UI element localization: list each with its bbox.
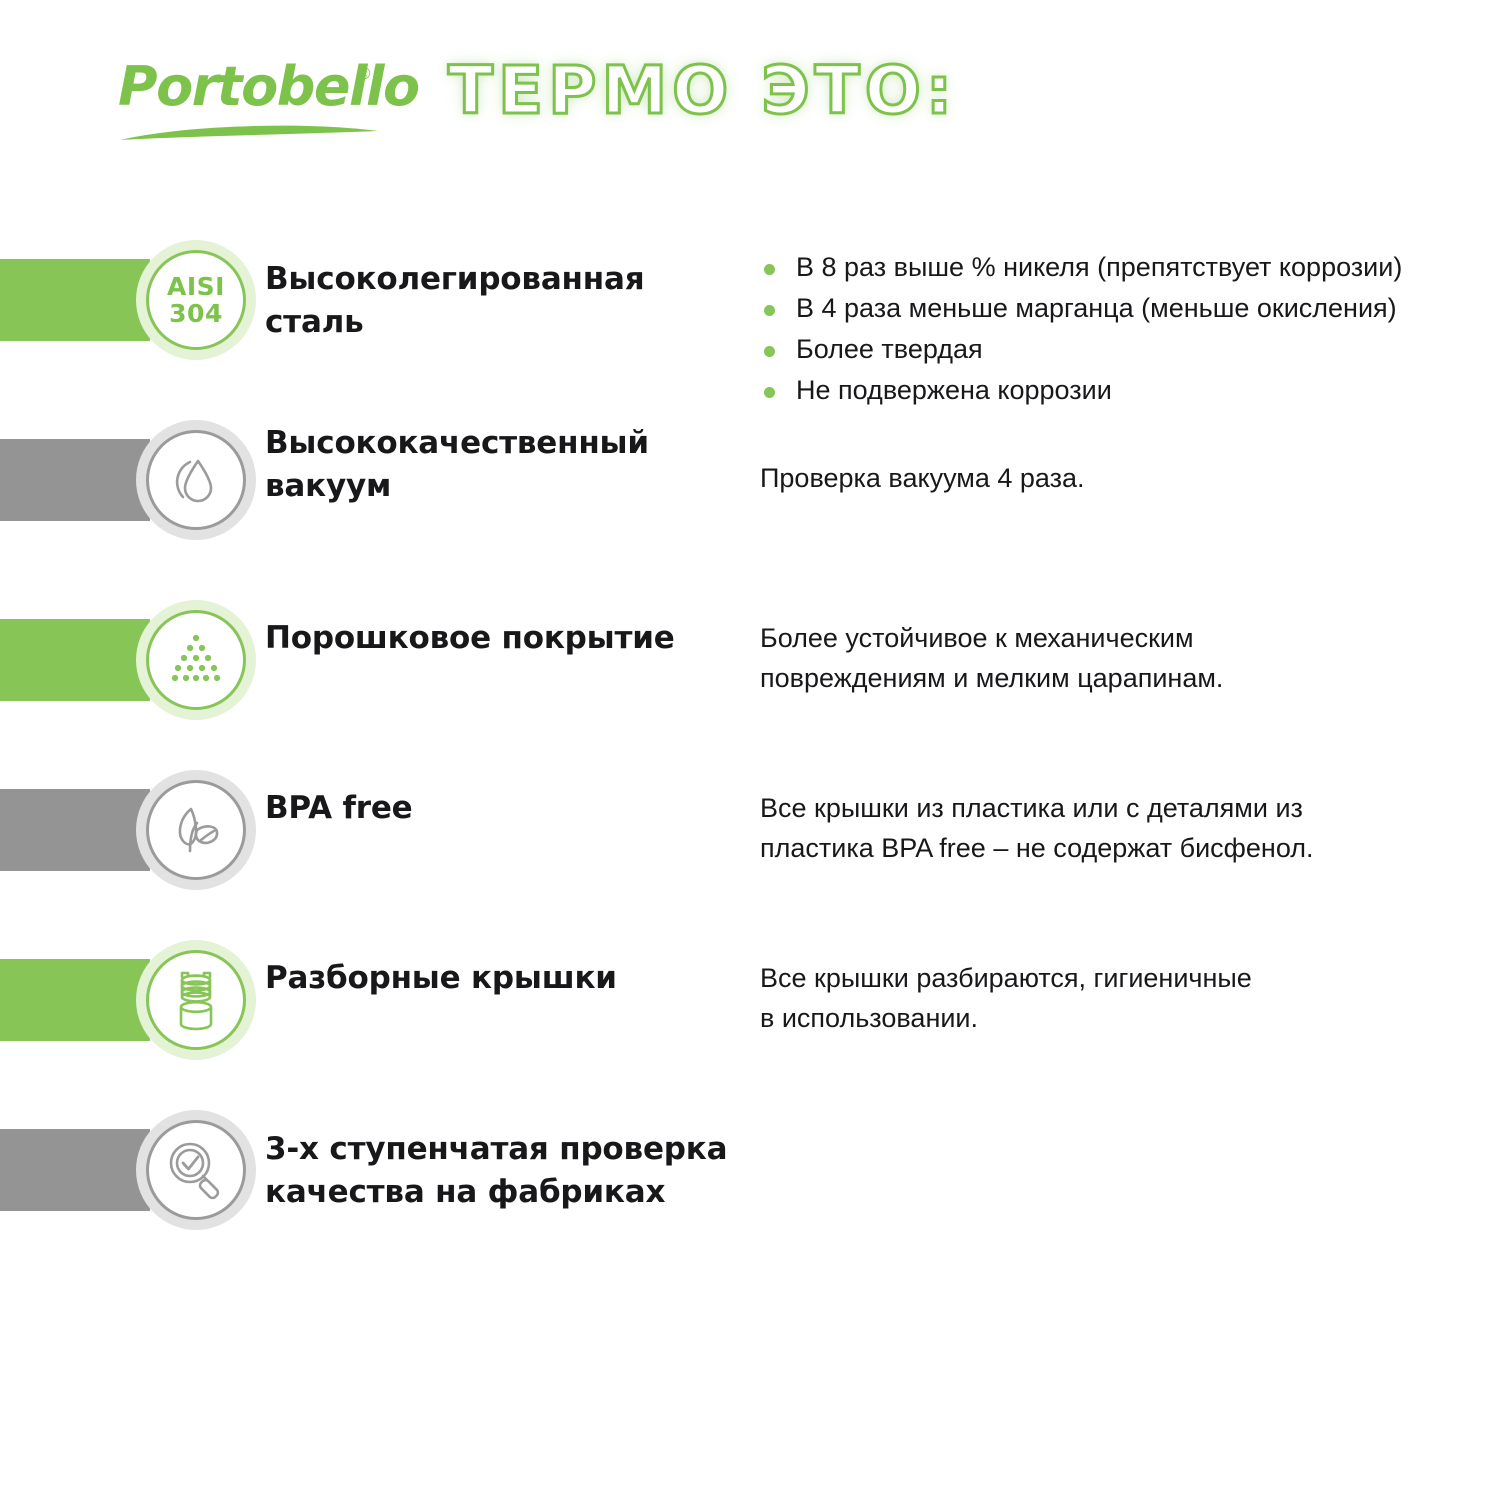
- powder-dots-icon: [146, 610, 246, 710]
- row-accent-bar: [0, 619, 150, 701]
- feature-row-bpa-free: BPA free Все крышки из пластика или с де…: [0, 730, 1500, 900]
- row-accent-bar: [0, 439, 150, 521]
- disassemblable-lid-icon: [146, 950, 246, 1050]
- badge-line-1: AISI: [167, 273, 225, 300]
- feature-row-quality-check: 3-х ступенчатая проверка качества на фаб…: [0, 1070, 1500, 1250]
- logo-swoosh-icon: [120, 122, 378, 142]
- row-accent-bar: [0, 789, 150, 871]
- leaves-icon: [146, 780, 246, 880]
- list-item: В 8 раз выше % никеля (препятствует корр…: [760, 247, 1402, 288]
- feature-row-steel: AISI 304 Высоколегированная сталь В 8 ра…: [0, 200, 1500, 380]
- feature-row-powder-coating: Порошковое покрытие Более устойчивое к м…: [0, 560, 1500, 730]
- row-accent-bar: [0, 1129, 150, 1211]
- row-description-line: Проверка вакуума 4 раза.: [760, 458, 1085, 498]
- aisi-304-badge-icon: AISI 304: [146, 250, 246, 350]
- row-description-line: в использовании.: [760, 998, 1252, 1038]
- row-accent-bar: [0, 259, 150, 341]
- feature-row-lids: Разборные крышки Все крышки разбираются,…: [0, 900, 1500, 1070]
- brand-wordmark: Portobello: [118, 58, 419, 116]
- row-description-line: Все крышки из пластика или с деталями из: [760, 788, 1314, 828]
- magnifier-check-icon: [146, 1120, 246, 1220]
- row-title: 3-х ступенчатая проверка качества на фаб…: [265, 1128, 765, 1214]
- row-description-line: повреждениям и мелким царапинам.: [760, 658, 1223, 698]
- page-title: ТЕРМО ЭТО:: [448, 52, 957, 130]
- list-item: В 4 раза меньше марганца (меньше окислен…: [760, 288, 1402, 329]
- row-accent-bar: [0, 959, 150, 1041]
- row-title: BPA free: [265, 787, 695, 830]
- water-drop-icon: [146, 430, 246, 530]
- brand-logo: Portobello ®: [118, 58, 388, 150]
- row-description-line: Все крышки разбираются, гигиеничные: [760, 958, 1252, 998]
- row-description-line: Более устойчивое к механическим: [760, 618, 1223, 658]
- feature-row-vacuum: Высококачественный вакуум Проверка вакуу…: [0, 380, 1500, 550]
- badge-line-2: 304: [167, 300, 225, 327]
- header: Portobello ® ТЕРМО ЭТО:: [0, 0, 1500, 200]
- row-title: Высоколегированная сталь: [265, 258, 705, 344]
- row-title: Разборные крышки: [265, 957, 695, 1000]
- row-title: Порошковое покрытие: [265, 617, 735, 660]
- row-description-line: пластика BPA free – не содержат бисфенол…: [760, 828, 1314, 868]
- registered-trademark-icon: ®: [358, 64, 371, 84]
- infographic-page: Portobello ® ТЕРМО ЭТО: AISI 304 Высокол…: [0, 0, 1500, 1500]
- list-item: Более твердая: [760, 329, 1402, 370]
- row-title: Высококачественный вакуум: [265, 422, 695, 508]
